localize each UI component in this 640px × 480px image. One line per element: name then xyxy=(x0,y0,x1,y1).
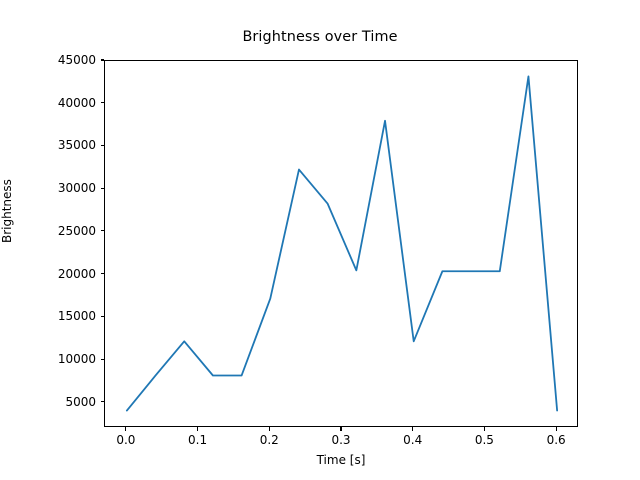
y-tick-label: 25000 xyxy=(20,224,96,238)
y-tick-mark xyxy=(101,230,105,231)
y-tick-label: 30000 xyxy=(20,181,96,195)
brightness-line xyxy=(127,76,557,410)
y-tick-mark xyxy=(101,59,105,60)
line-series-plot xyxy=(105,61,579,428)
y-tick-label: 40000 xyxy=(20,96,96,110)
x-tick-mark xyxy=(269,427,270,431)
x-tick-label: 0.4 xyxy=(403,433,422,447)
matplotlib-figure: Brightness over Time Brightness 50001000… xyxy=(0,0,640,480)
x-tick-label: 0.5 xyxy=(475,433,494,447)
x-tick-label: 0.1 xyxy=(188,433,207,447)
x-tick-mark xyxy=(340,427,341,431)
x-tick-mark xyxy=(484,427,485,431)
chart-title: Brightness over Time xyxy=(0,29,640,45)
y-tick-mark xyxy=(101,188,105,189)
x-tick-label: 0.6 xyxy=(547,433,566,447)
x-tick-label: 0.0 xyxy=(116,433,135,447)
plot-axes xyxy=(104,60,578,427)
x-tick-label: 0.2 xyxy=(260,433,279,447)
y-tick-mark xyxy=(101,273,105,274)
x-tick-label: 0.3 xyxy=(331,433,350,447)
y-tick-mark xyxy=(101,401,105,402)
y-tick-mark xyxy=(101,359,105,360)
y-tick-label: 10000 xyxy=(20,352,96,366)
y-tick-label: 15000 xyxy=(20,309,96,323)
y-tick-label: 20000 xyxy=(20,267,96,281)
y-tick-mark xyxy=(101,145,105,146)
y-tick-label: 5000 xyxy=(20,395,96,409)
y-tick-mark xyxy=(101,102,105,103)
x-tick-mark xyxy=(412,427,413,431)
x-tick-mark xyxy=(197,427,198,431)
y-tick-mark xyxy=(101,316,105,317)
y-tick-label: 45000 xyxy=(20,53,96,67)
x-tick-mark xyxy=(556,427,557,431)
x-tick-mark xyxy=(125,427,126,431)
y-axis-label: Brightness xyxy=(0,179,14,243)
y-tick-label: 35000 xyxy=(20,138,96,152)
x-axis-label: Time [s] xyxy=(104,453,578,467)
